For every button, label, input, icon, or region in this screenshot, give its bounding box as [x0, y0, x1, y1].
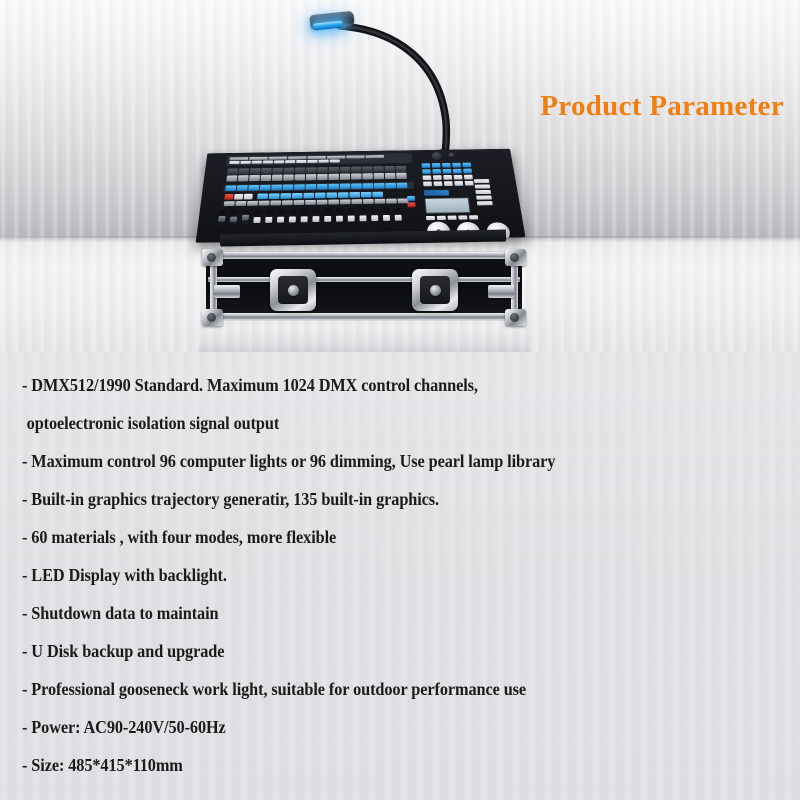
spec-item: - Power: AC90-240V/50-60Hz: [22, 708, 736, 746]
case-latch-left: [270, 269, 316, 311]
blue-button-row-2: [257, 192, 383, 200]
transport-button-cluster: [224, 194, 252, 200]
latch-knob: [288, 285, 299, 296]
lcd-display: [424, 197, 470, 213]
soft-key-column: [474, 179, 493, 205]
flight-case: [198, 247, 530, 333]
upper-fader-bank: [224, 166, 413, 183]
specification-list: - DMX512/1990 Standard. Maximum 1024 DMX…: [0, 352, 800, 800]
case-latch-right: [412, 269, 458, 311]
case-corner-top-right: [505, 249, 526, 266]
lcd-soft-buttons: [426, 215, 478, 220]
keypad-row-4: [423, 181, 474, 186]
keypad-row-1: [422, 163, 472, 168]
floor-reflection: [198, 330, 530, 352]
spec-item: - LED Display with backlight.: [22, 556, 736, 594]
page-title: Product Parameter: [540, 90, 784, 123]
lower-fader-bank: [215, 205, 424, 233]
case-rail-top: [208, 252, 520, 259]
side-button-column: [407, 196, 416, 207]
master-encoder-knob: [432, 152, 443, 160]
product-parameter-page: Product Parameter - DMX512/1990 Standard…: [0, 0, 800, 800]
case-corner-top-left: [202, 249, 223, 266]
dmx-console: [196, 128, 526, 253]
console-top-panel: [196, 149, 526, 243]
case-rail-middle: [208, 277, 520, 282]
spec-item: - U Disk backup and upgrade: [22, 632, 736, 670]
spec-item: - 60 materials , with four modes, more f…: [22, 518, 736, 556]
latch-knob: [430, 285, 441, 296]
case-hinge-left: [214, 285, 240, 298]
spec-item: - DMX512/1990 Standard. Maximum 1024 DMX…: [22, 366, 736, 404]
flash-button-row: [224, 198, 409, 206]
case-body: [206, 253, 522, 319]
keypad-row-3: [423, 175, 473, 180]
spec-item: - Size: 485*415*110mm: [22, 746, 736, 784]
spec-item: - Professional gooseneck work light, sui…: [22, 670, 736, 708]
case-rail-bottom: [208, 313, 520, 320]
spec-item: - Shutdown data to maintain: [22, 594, 736, 632]
small-knob: [448, 153, 455, 158]
spec-item: - Maximum control 96 computer lights or …: [22, 442, 736, 480]
case-corner-bottom-right: [505, 309, 526, 326]
case-corner-bottom-left: [202, 309, 223, 326]
case-hinge-right: [488, 285, 514, 298]
keypad-row-2: [422, 169, 472, 174]
spec-item-continuation: optoelectronic isolation signal output: [22, 404, 736, 442]
product-photo: Product Parameter: [0, 0, 800, 352]
brand-logo: [424, 190, 449, 196]
spec-item: - Built-in graphics trajectory generatir…: [22, 480, 736, 518]
